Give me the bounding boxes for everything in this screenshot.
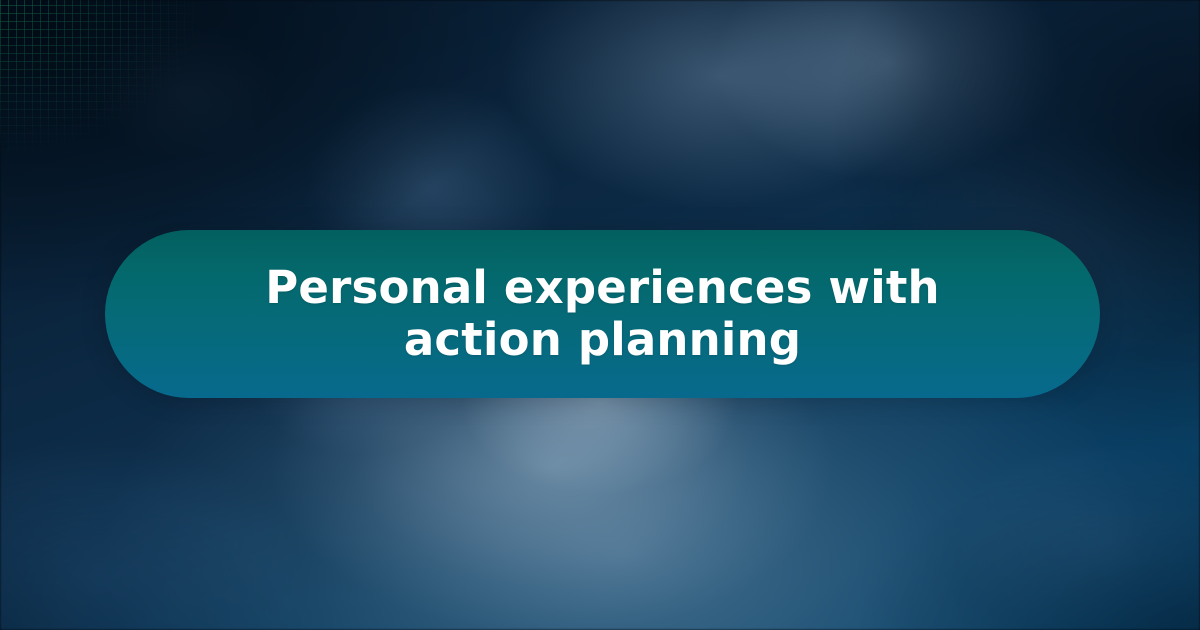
page-title: Personal experiences with action plannin… [253, 262, 953, 366]
title-pill: Personal experiences with action plannin… [105, 230, 1100, 398]
social-share-card: Personal experiences with action plannin… [0, 0, 1200, 630]
dot-grid-overlay-icon [0, 0, 300, 230]
